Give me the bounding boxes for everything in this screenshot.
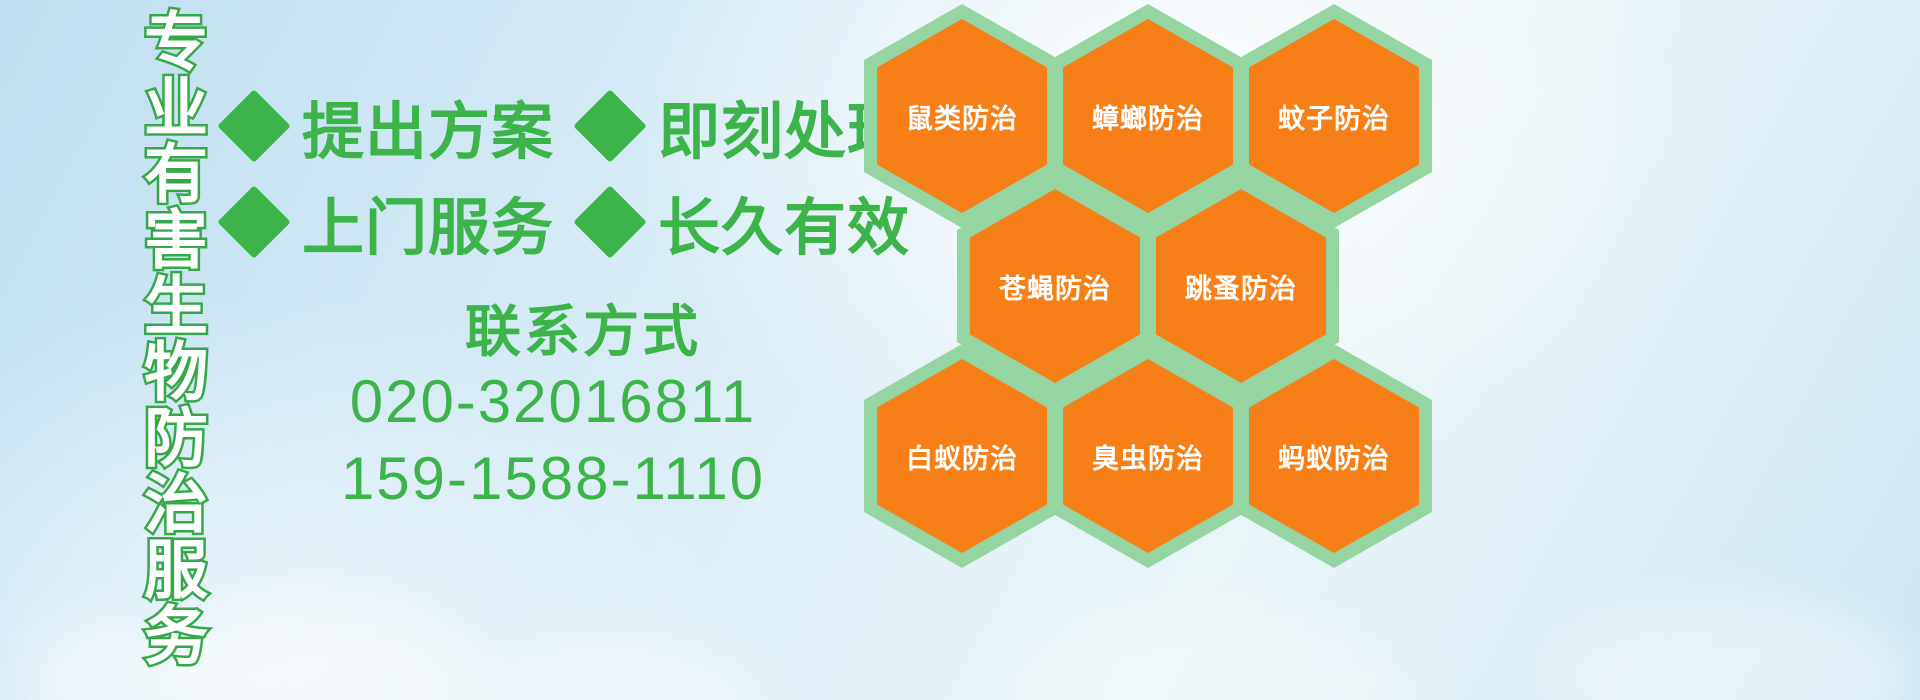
background-glow-2 [470, 630, 770, 700]
service-hex-label: 蚂蚁防治 [1278, 437, 1390, 476]
background-glow-4 [1550, 600, 1910, 700]
diamond-icon [573, 89, 647, 163]
service-hex-label: 白蚁防治 [906, 437, 1018, 476]
feature-label: 提出方案 [302, 81, 554, 171]
hex-inner: 白蚁防治 [877, 359, 1047, 553]
background-glow-3 [1010, 610, 1430, 700]
service-hex-label: 蚊子防治 [1278, 97, 1390, 136]
hex-inner: 鼠类防治 [877, 19, 1047, 213]
phone-number-landline[interactable]: 020-32016811 [258, 364, 848, 441]
feature-row: 上门服务 长久有效 [228, 174, 910, 270]
service-hex-label: 苍蝇防治 [999, 267, 1111, 306]
service-hex-label: 蟑螂防治 [1092, 97, 1204, 136]
feature-label: 上门服务 [302, 177, 554, 267]
feature-list: 提出方案 即刻处理 上门服务 长久有效 [228, 78, 910, 270]
contact-title: 联系方式 [318, 300, 848, 364]
diamond-icon [217, 89, 291, 163]
service-hex-label: 跳蚤防治 [1185, 267, 1297, 306]
vertical-headline: 专业有害生物防治服务 [118, 8, 202, 668]
hex-inner: 臭虫防治 [1063, 359, 1233, 553]
hex-inner: 苍蝇防治 [970, 189, 1140, 383]
hex-inner: 跳蚤防治 [1156, 189, 1326, 383]
service-honeycomb: 鼠类防治 蟑螂防治 蚊子防治 苍蝇防治 跳蚤防治 白蚁防 [856, 0, 1476, 576]
hex-inner: 蚊子防治 [1249, 19, 1419, 213]
hex-inner: 蟑螂防治 [1063, 19, 1233, 213]
service-hex-label: 鼠类防治 [906, 97, 1018, 136]
hex-inner: 蚂蚁防治 [1249, 359, 1419, 553]
diamond-icon [217, 185, 291, 259]
phone-number-mobile[interactable]: 159-1588-1110 [258, 441, 848, 518]
service-hex-label: 臭虫防治 [1092, 437, 1204, 476]
contact-block: 联系方式 020-32016811 159-1588-1110 [228, 300, 848, 518]
feature-row: 提出方案 即刻处理 [228, 78, 910, 174]
diamond-icon [573, 185, 647, 259]
banner-canvas: 专业有害生物防治服务 提出方案 即刻处理 上门服务 长久有效 联系方式 020-… [0, 0, 1920, 700]
